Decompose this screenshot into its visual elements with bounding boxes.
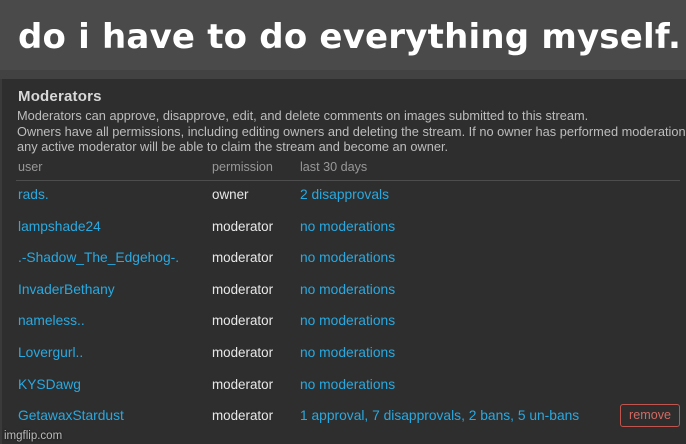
moderator-activity-link[interactable]: 2 disapprovals — [300, 187, 389, 202]
column-header-last-30-days: last 30 days — [300, 160, 367, 174]
moderator-activity-link[interactable]: no moderations — [300, 377, 395, 392]
column-header-user: user — [18, 160, 43, 174]
moderators-table: user permission last 30 days rads.owner2… — [2, 160, 686, 185]
table-row: rads.owner2 disapprovals — [2, 182, 686, 214]
panel-description-line: any active moderator will be able to cla… — [17, 139, 686, 155]
meme-screenshot: do i have to do everything myself. Moder… — [0, 0, 686, 444]
table-row: nameless..moderatorno moderations — [2, 308, 686, 340]
moderator-username-link[interactable]: InvaderBethany — [18, 282, 115, 297]
moderator-permission: moderator — [212, 250, 273, 265]
panel-description-line: Owners have all permissions, including e… — [17, 124, 686, 140]
moderator-permission: owner — [212, 187, 248, 202]
moderator-activity-link[interactable]: 1 approval, 7 disapprovals, 2 bans, 5 un… — [300, 408, 579, 423]
moderator-username-link[interactable]: lampshade24 — [18, 219, 101, 234]
panel-top-strip — [0, 70, 686, 79]
meme-caption-band: do i have to do everything myself. — [0, 0, 686, 70]
table-row: lampshade24moderatorno moderations — [2, 214, 686, 246]
moderator-permission: moderator — [212, 345, 273, 360]
meme-caption-text: do i have to do everything myself. — [18, 17, 678, 57]
table-row: InvaderBethanymoderatorno moderations — [2, 277, 686, 309]
moderator-activity-link[interactable]: no moderations — [300, 313, 395, 328]
moderator-username-link[interactable]: KYSDawg — [18, 377, 81, 392]
moderator-username-link[interactable]: GetawaxStardust — [18, 408, 124, 423]
panel-title: Moderators — [18, 88, 102, 105]
moderator-activity-link[interactable]: no moderations — [300, 282, 395, 297]
table-row: GetawaxStardustmoderator1 approval, 7 di… — [2, 403, 686, 435]
moderator-permission: moderator — [212, 408, 273, 423]
moderator-username-link[interactable]: rads. — [18, 187, 49, 202]
panel-description: Moderators can approve, disapprove, edit… — [17, 108, 686, 155]
moderator-permission: moderator — [212, 282, 273, 297]
moderator-username-link[interactable]: Lovergurl.. — [18, 345, 83, 360]
moderator-username-link[interactable]: .-Shadow_The_Edgehog-. — [18, 250, 179, 265]
table-body: rads.owner2 disapprovalslampshade24moder… — [2, 182, 686, 435]
moderator-permission: moderator — [212, 313, 273, 328]
imgflip-watermark: imgflip.com — [4, 430, 62, 442]
moderator-permission: moderator — [212, 377, 273, 392]
table-header-divider — [16, 180, 680, 181]
table-row: Lovergurl..moderatorno moderations — [2, 340, 686, 372]
table-row: .-Shadow_The_Edgehog-.moderatorno modera… — [2, 245, 686, 277]
moderator-activity-link[interactable]: no moderations — [300, 250, 395, 265]
panel-description-line: Moderators can approve, disapprove, edit… — [17, 108, 686, 124]
column-header-permission: permission — [212, 160, 273, 174]
moderator-activity-link[interactable]: no moderations — [300, 345, 395, 360]
moderator-permission: moderator — [212, 219, 273, 234]
remove-moderator-button[interactable]: remove — [620, 404, 680, 427]
moderators-panel: Moderators Moderators can approve, disap… — [0, 79, 686, 444]
table-row: KYSDawgmoderatorno moderations — [2, 372, 686, 404]
moderator-username-link[interactable]: nameless.. — [18, 313, 85, 328]
moderator-activity-link[interactable]: no moderations — [300, 219, 395, 234]
